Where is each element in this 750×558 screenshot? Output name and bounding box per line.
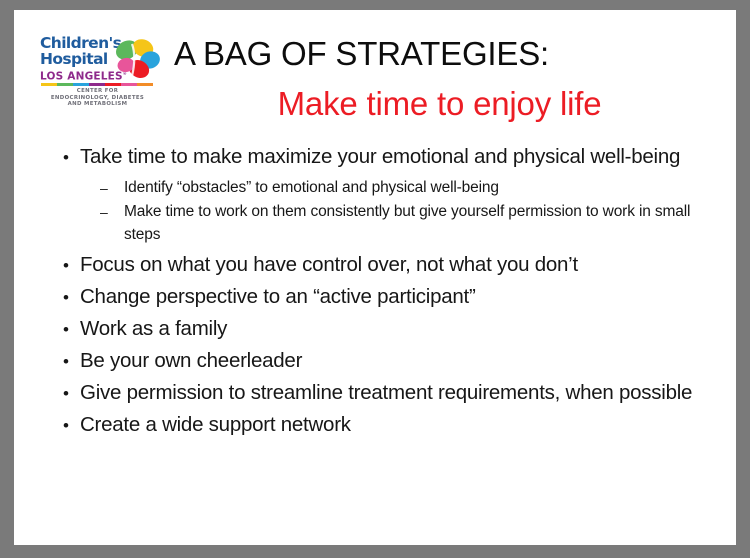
bullet-marker-icon: • <box>52 379 80 409</box>
bullet-item: •Give permission to streamline treatment… <box>52 379 727 409</box>
bullet-marker-icon: • <box>52 143 80 173</box>
bullet-item: •Take time to make maximize your emotion… <box>52 143 727 173</box>
bullet-text: Give permission to streamline treatment … <box>80 379 692 407</box>
slide-outer-frame: Children's Hospital LOS ANGELES® CENTER … <box>0 0 750 558</box>
sub-bullet-item: –Make time to work on them consistently … <box>52 200 727 246</box>
bullet-text: Work as a family <box>80 315 227 343</box>
logo-line-childrens: Children's <box>40 36 118 51</box>
bullet-marker-icon: • <box>52 347 80 377</box>
bullet-item: •Be your own cheerleader <box>52 347 727 377</box>
bullet-item: •Work as a family <box>52 315 727 345</box>
bullet-marker-icon: • <box>52 251 80 281</box>
logo-wordmark: Children's Hospital LOS ANGELES® <box>40 36 118 83</box>
bullet-text: Focus on what you have control over, not… <box>80 251 578 279</box>
sub-bullet-dash-icon: – <box>52 200 124 224</box>
sub-bullet-dash-icon: – <box>52 176 124 200</box>
logo-color-divider <box>41 83 153 86</box>
logo-caption-line-1: CENTER FOR <box>40 88 155 95</box>
logo-line-hospital: Hospital <box>40 52 118 67</box>
sub-bullet-group: –Identify “obstacles” to emotional and p… <box>52 176 727 246</box>
sub-bullet-item: –Identify “obstacles” to emotional and p… <box>52 176 727 200</box>
sub-bullet-text: Make time to work on them consistently b… <box>124 200 727 246</box>
bullet-text: Change perspective to an “active partici… <box>80 283 476 311</box>
title-block: A BAG OF STRATEGIES: Make time to enjoy … <box>174 34 719 125</box>
bullet-item: •Change perspective to an “active partic… <box>52 283 727 313</box>
logo-line-los-angeles: LOS ANGELES® <box>40 68 118 83</box>
slide-canvas: Children's Hospital LOS ANGELES® CENTER … <box>14 10 736 545</box>
logo: Children's Hospital LOS ANGELES® CENTER … <box>40 36 162 114</box>
slide-title: A BAG OF STRATEGIES: <box>174 34 719 74</box>
logo-caption-line-2: ENDOCRINOLOGY, DIABETES <box>40 95 155 102</box>
logo-city-text: LOS ANGELES <box>40 71 123 83</box>
bullet-item: •Create a wide support network <box>52 411 727 441</box>
bullet-marker-icon: • <box>52 315 80 345</box>
bullet-list: •Take time to make maximize your emotion… <box>52 143 727 443</box>
bullet-text: Be your own cheerleader <box>80 347 302 375</box>
bullet-text: Create a wide support network <box>80 411 351 439</box>
bullet-marker-icon: • <box>52 411 80 441</box>
bullet-item: •Focus on what you have control over, no… <box>52 251 727 281</box>
logo-caption: CENTER FOR ENDOCRINOLOGY, DIABETES AND M… <box>40 88 155 108</box>
logo-caption-line-3: AND METABOLISM <box>40 101 155 108</box>
sub-bullet-text: Identify “obstacles” to emotional and ph… <box>124 176 499 199</box>
butterfly-icon <box>112 38 160 82</box>
slide-subtitle: Make time to enjoy life <box>174 83 719 125</box>
bullet-marker-icon: • <box>52 283 80 313</box>
bullet-text: Take time to make maximize your emotiona… <box>80 143 680 171</box>
